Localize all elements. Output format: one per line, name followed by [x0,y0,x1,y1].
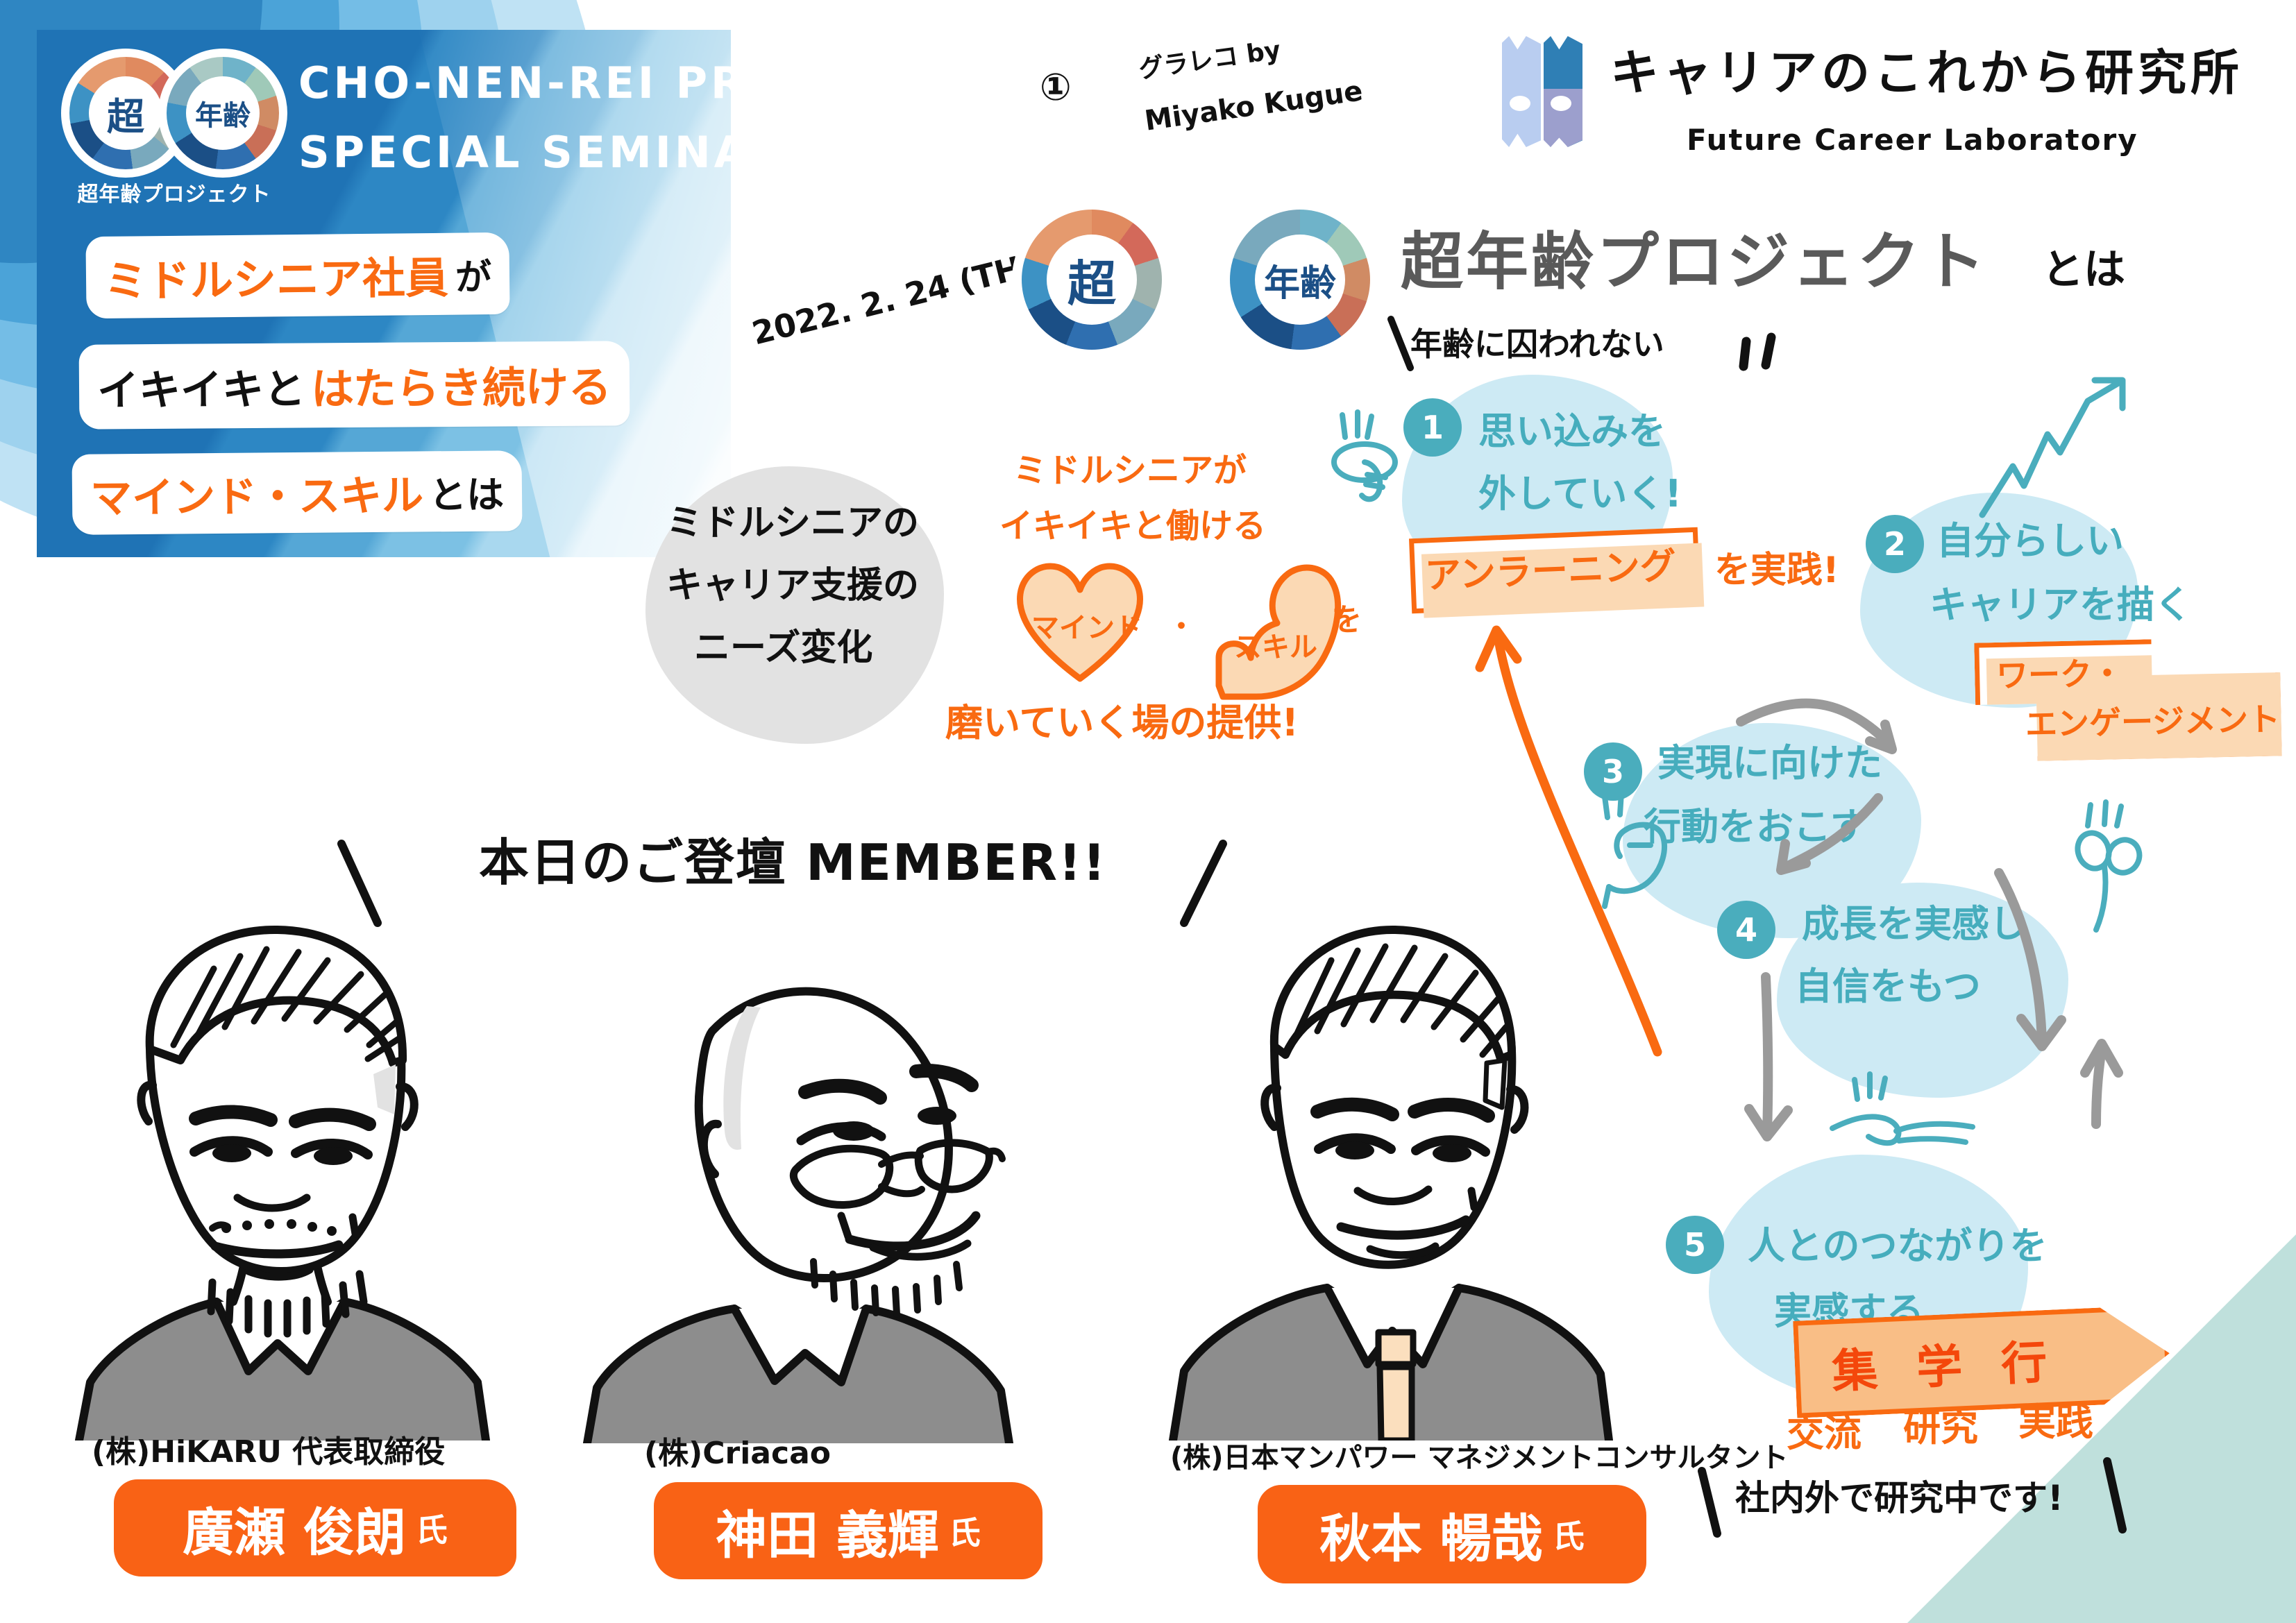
cycle-step-4-line-1: 成長を実感し [1802,901,2027,948]
portrait-akimoto [1145,885,1617,1441]
project-heading: 超年齢プロジェクト [1401,223,1988,302]
hero-pill-3-orange: マインド・スキル [90,461,424,525]
lab-name-en: Future Career Laboratory [1687,122,2138,159]
arrow-segment-2: 学 [1915,1329,1964,1397]
hero-pill-1: ミドルシニア社員 が [85,232,509,318]
cycle-number-5: 5 [1666,1216,1724,1274]
logo-left-char: 超 [89,76,162,150]
callout-engagement-line-1: ワーク・ [1995,654,2123,696]
member-org-3: (株)日本マンパワー マネジメントコンサルタント [1170,1435,1789,1475]
career-lab-logo [1502,36,1592,147]
arrow-sublabel-2: 研究 [1903,1404,1978,1452]
project-logo-left-char: 超 [1047,235,1137,325]
mindskill-wo: を [1331,601,1362,639]
page-number: ① [1040,64,1072,111]
member-name-3: 秋本 暢哉 [1319,1497,1543,1572]
footer-note: 社内外で研究中です! [1735,1477,2063,1520]
cycle-step-1-line-2: 外していく! [1478,470,1682,518]
callout-unlearning-box: アンラーニング [1409,527,1700,614]
mindskill-bottom-line: 磨いていく場の提供! [945,699,1299,747]
needs-line-3: ニーズ変化 [694,623,872,674]
arrow-segment-3: 行 [2000,1325,2048,1394]
project-infinity-logo: 超 年齢 [1012,200,1387,359]
member-name-suffix-3: 氏 [1553,1511,1585,1557]
project-logo-right-char: 年齢 [1255,235,1345,325]
needs-line-2: キャリア支援の [666,561,919,612]
mindskill-line-2: イキイキと働ける [999,505,1266,547]
lab-name-jp: キャリアのこれから研究所 [1610,43,2243,104]
mindskill-dot: ・ [1167,609,1195,644]
arrow-sublabel-1: 交流 [1787,1410,1862,1457]
cycle-step-2-line-2: キャリアを描く [1930,581,2192,629]
credit-name: Miyako Kugue [1142,74,1365,139]
cycle-number-2: 2 [1866,515,1924,573]
arrow-segment-1: 集 [1830,1333,1879,1402]
callout-unlearning-tail: を実践! [1714,548,1839,593]
cycle-number-4: 4 [1717,901,1775,959]
member-name-1: 廣瀬 俊朗 [183,1491,406,1565]
sketchnote-canvas: 超 年齢 超年齢プロジェクト CHO-NEN-REI PROJECT SPECI… [0,0,2296,1623]
cycle-step-4-line-2: 自信をもつ [1795,963,1981,1010]
member-org-1: (株)HiKARU 代表取締役 [92,1427,445,1471]
hero-pill-2: イキイキと はたらき続ける [79,341,630,430]
hero-pill-3-black: とは [429,464,505,519]
growth-arrow-icon [1973,368,2160,527]
credit-label: グラレコ by [1137,35,1283,85]
portrait-kanda [576,902,1020,1443]
logo-right-char: 年齢 [186,76,260,150]
handshake-icon [1827,1069,1986,1173]
cycle-step-5-line-1: 人とのつながりを [1748,1223,2047,1270]
hero-pill-1-orange: ミドルシニア社員 [104,243,449,309]
portrait-hirose [69,885,500,1441]
cycle-arrow-5-up [2096,1048,2102,1124]
member-name-plate-3: 秋本 暢哉 氏 [1258,1485,1646,1583]
muscle-label: スキル [1234,630,1317,665]
members-heading: 本日のご登壇 MEMBER!! [479,831,1107,894]
hand-pinch-icon [1331,408,1421,505]
needs-line-1: ミドルシニアの [666,498,919,550]
heart-label: マインド [1031,611,1142,645]
hero-pill-2-orange: はたらき続ける [311,352,611,416]
cycle-step-1-line-1: 思い込みを [1478,408,1666,455]
hero-title-line1: CHO-NEN-REI PROJECT [298,54,908,112]
hero-pill-1-black: が [455,248,492,300]
member-name-suffix-1: 氏 [416,1505,448,1551]
cho-nen-rei-logo: 超 年齢 超年齢プロジェクト [61,43,290,192]
arrow-sublabel-3: 実践 [2018,1399,2093,1446]
member-name-suffix-2: 氏 [949,1508,981,1554]
subnote-tick-icon [1391,319,1410,368]
hero-pill-3: マインド・スキル とは [72,450,523,535]
sprout-icon [2056,797,2160,935]
arrow-banner: 集 学 行 [1793,1305,2172,1418]
mindskill-line-1: ミドルシニアが [1013,450,1247,491]
hero-pill-2-black: イキイキと [97,355,306,417]
cycle-arrow-4-5 [1766,977,1768,1132]
callout-engagement-line-2: エンゲージメント [2025,699,2280,745]
hero-title-line2: SPECIAL SEMINAR [298,124,787,182]
member-name-plate-2: 神田 義輝 氏 [654,1482,1043,1579]
project-heading-suffix: とは [2042,244,2125,296]
project-subnote: 年齢に囚われない [1410,325,1664,365]
member-name-plate-1: 廣瀬 俊朗 氏 [114,1479,516,1577]
logo-caption: 超年齢プロジェクト [60,182,289,208]
member-org-2: (株)Criacao [644,1428,831,1472]
cycle-step-3-line-1: 実現に向けた [1657,740,1882,787]
member-name-2: 神田 義輝 [716,1494,939,1568]
